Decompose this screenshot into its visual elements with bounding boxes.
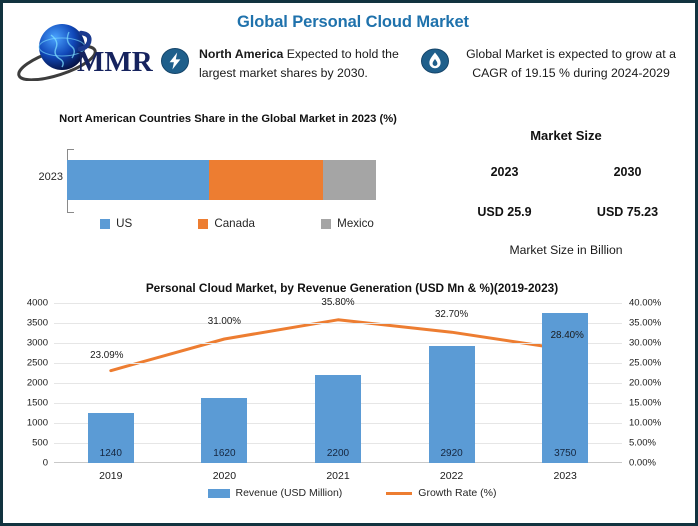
stacked-bar <box>67 160 376 200</box>
y-axis-tick-right: 35.00% <box>629 318 661 329</box>
y-axis-tick-left: 3500 <box>27 318 48 329</box>
chart-growth-rate-label: 31.00% <box>208 316 241 327</box>
y-axis-tick-left: 4000 <box>27 298 48 309</box>
chart-legend: Revenue (USD Million) Growth Rate (%) <box>9 487 695 499</box>
market-size-value-2030: USD 75.23 <box>573 205 683 219</box>
logo-text: MMR <box>77 46 154 78</box>
fact-lead: North America <box>199 47 283 61</box>
stacked-segment-us <box>67 160 209 200</box>
header: MMR Global Personal Cloud Market North A… <box>3 3 695 103</box>
legend-label-canada: Canada <box>214 217 255 230</box>
y-axis-tick-left: 1500 <box>27 398 48 409</box>
y-axis-tick-right: 10.00% <box>629 418 661 429</box>
lightning-bolt-icon <box>161 47 189 75</box>
chart-growth-rate-label: 28.40% <box>551 330 584 341</box>
market-size-year-2030: 2030 <box>573 165 683 179</box>
chart-bar-value-label: 1620 <box>201 448 247 459</box>
page-title: Global Personal Cloud Market <box>153 13 553 32</box>
chart-bar: 1620 <box>201 398 247 463</box>
chart-growth-rate-label: 32.70% <box>435 309 468 320</box>
chart-gridline <box>54 323 622 324</box>
revenue-growth-chart: Personal Cloud Market, by Revenue Genera… <box>9 281 695 523</box>
legend-item-growth: Growth Rate (%) <box>386 487 496 499</box>
stacked-bar-panel: Nort American Countries Share in the Glo… <box>13 111 433 246</box>
y-axis-tick-left: 2000 <box>27 378 48 389</box>
fact-cagr: Global Market is expected to grow at a C… <box>421 45 689 83</box>
market-size-panel: Market Size 2023 2030 USD 25.9 USD 75.23… <box>443 128 689 258</box>
legend-item-canada: Canada <box>198 217 255 230</box>
y-axis-tick-right: 20.00% <box>629 378 661 389</box>
stacked-segment-canada <box>209 160 323 200</box>
y-axis-tick-right: 40.00% <box>629 298 661 309</box>
chart-growth-rate-label: 23.09% <box>90 350 123 361</box>
chart-bar: 2920 <box>429 346 475 463</box>
legend-item-us: US <box>100 217 132 230</box>
y-axis-tick-right: 25.00% <box>629 358 661 369</box>
x-axis-tick: 2022 <box>440 470 463 482</box>
chart-title: Personal Cloud Market, by Revenue Genera… <box>9 281 695 295</box>
market-size-year-2023: 2023 <box>450 165 560 179</box>
legend-item-revenue: Revenue (USD Million) <box>208 487 343 499</box>
legend-swatch-mexico <box>321 219 331 229</box>
chart-bar-value-label: 2920 <box>429 448 475 459</box>
legend-label-growth: Growth Rate (%) <box>418 487 496 499</box>
market-size-values: USD 25.9 USD 75.23 <box>443 205 689 219</box>
x-axis-tick: 2021 <box>326 470 349 482</box>
stacked-bar-legend: US Canada Mexico <box>67 217 407 230</box>
market-size-title: Market Size <box>443 128 689 143</box>
legend-label-revenue: Revenue (USD Million) <box>236 487 343 499</box>
y-axis-tick-right: 0.00% <box>629 458 656 469</box>
chart-bar: 1240 <box>88 413 134 463</box>
legend-label-us: US <box>116 217 132 230</box>
chart-bar-value-label: 3750 <box>542 448 588 459</box>
legend-label-mexico: Mexico <box>337 217 374 230</box>
legend-swatch-canada <box>198 219 208 229</box>
fact-cagr-text: Global Market is expected to grow at a C… <box>457 45 685 83</box>
y-axis-tick-left: 0 <box>43 458 48 469</box>
market-size-value-2023: USD 25.9 <box>450 205 560 219</box>
y-axis-tick-left: 3000 <box>27 338 48 349</box>
x-axis-tick: 2019 <box>99 470 122 482</box>
chart-gridline <box>54 363 622 364</box>
chart-gridline <box>54 343 622 344</box>
legend-swatch-us <box>100 219 110 229</box>
chart-bar: 2200 <box>315 375 361 463</box>
legend-swatch-revenue <box>208 489 230 498</box>
x-axis-tick: 2020 <box>213 470 236 482</box>
y-axis-tick-right: 15.00% <box>629 398 661 409</box>
stacked-bar-category-label: 2023 <box>23 171 63 183</box>
y-axis-tick-right: 5.00% <box>629 438 656 449</box>
stacked-bar-title: Nort American Countries Share in the Glo… <box>43 111 413 127</box>
mmr-logo: MMR <box>17 19 157 81</box>
globe-icon: MMR <box>17 19 157 81</box>
y-axis-tick-left: 2500 <box>27 358 48 369</box>
legend-swatch-growth <box>386 492 412 495</box>
fact-north-america: North America Expected to hold the large… <box>161 45 411 83</box>
market-size-years: 2023 2030 <box>443 165 689 179</box>
chart-bar-value-label: 1240 <box>88 448 134 459</box>
market-size-footnote: Market Size in Billion <box>443 243 689 257</box>
chart-bar-value-label: 2200 <box>315 448 361 459</box>
chart-plot-area: 050010001500200025003000350040000.00%5.0… <box>54 303 622 463</box>
y-axis-tick-right: 30.00% <box>629 338 661 349</box>
infographic-root: MMR Global Personal Cloud Market North A… <box>0 0 698 526</box>
x-axis-tick: 2023 <box>554 470 577 482</box>
y-axis-tick-left: 1000 <box>27 418 48 429</box>
chart-growth-rate-label: 35.80% <box>321 297 354 308</box>
stacked-segment-mexico <box>323 160 376 200</box>
y-axis-tick-left: 500 <box>32 438 48 449</box>
legend-item-mexico: Mexico <box>321 217 374 230</box>
fact-north-america-text: North America Expected to hold the large… <box>199 45 411 83</box>
stacked-bar-plot: 2023 <box>13 149 433 211</box>
flame-drop-icon <box>421 47 449 75</box>
